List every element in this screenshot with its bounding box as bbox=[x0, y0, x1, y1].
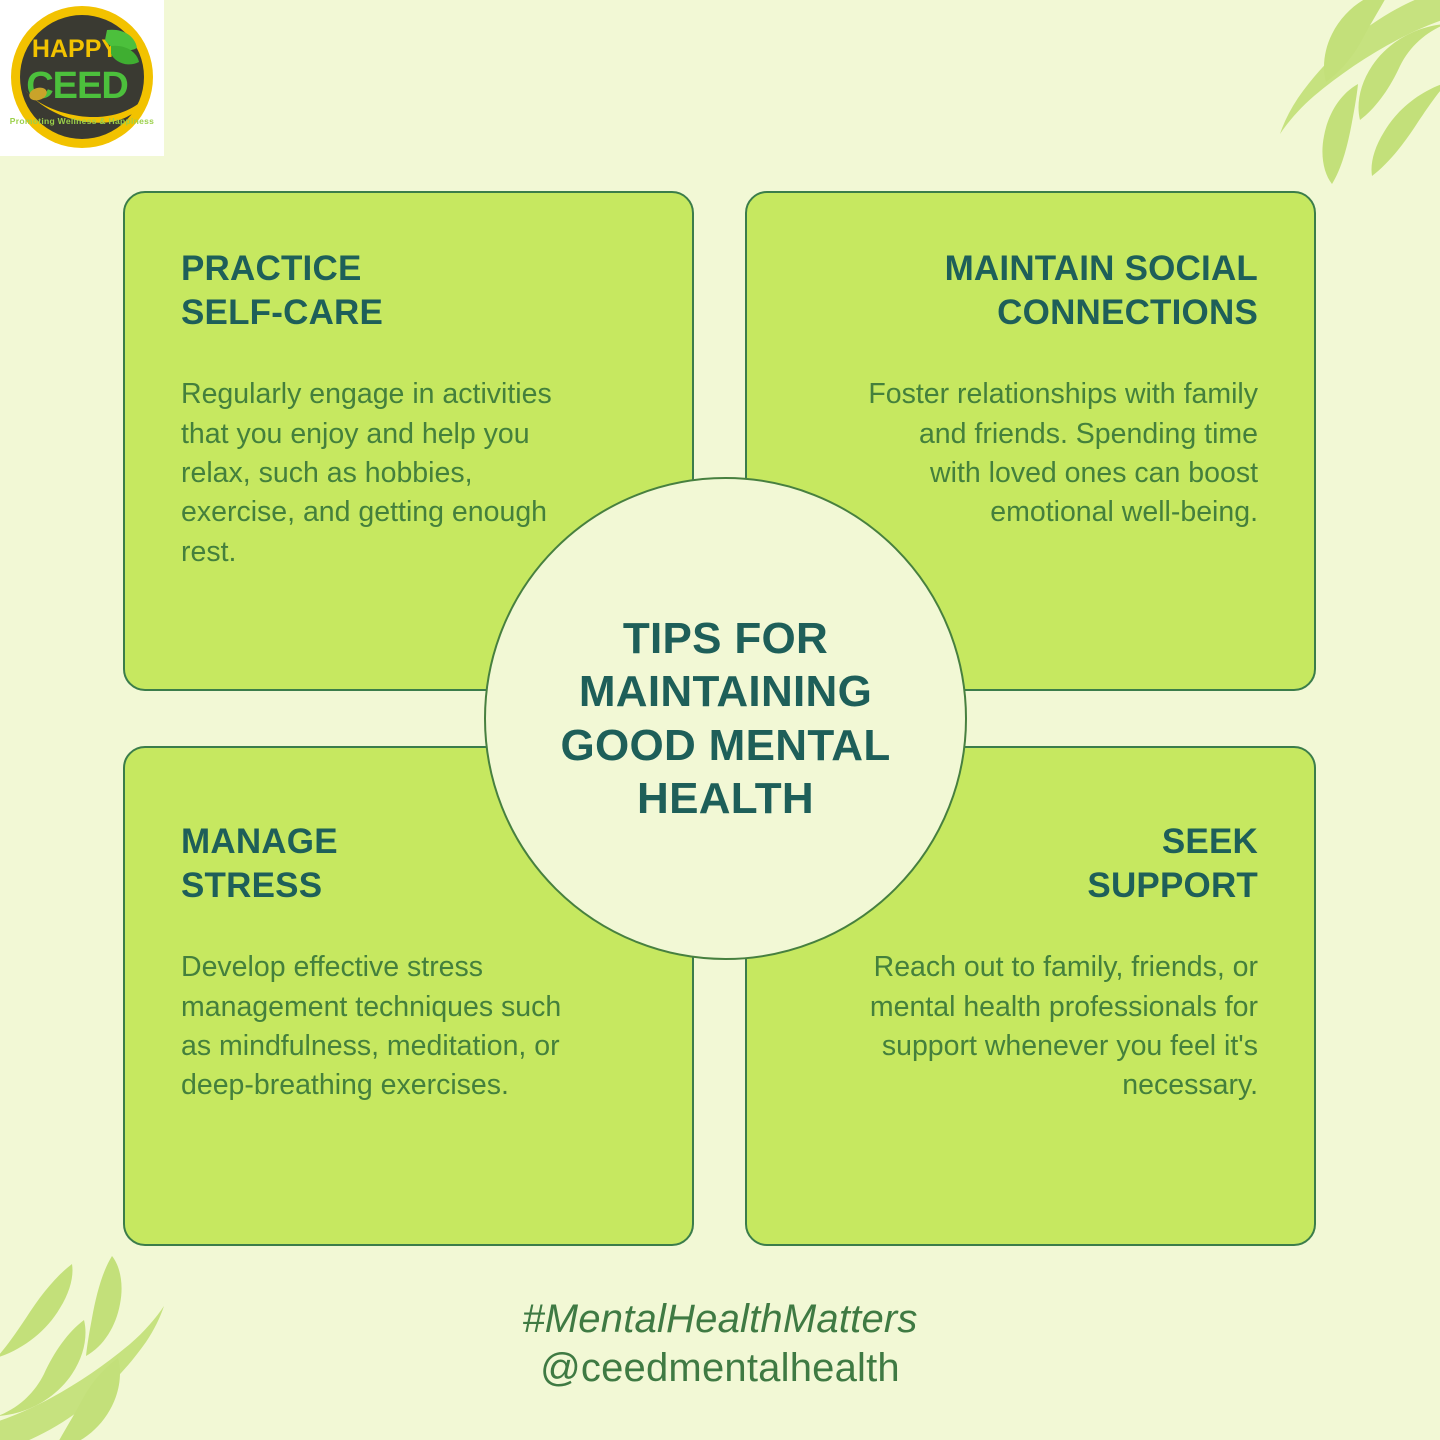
brand-logo: HAPPY CEED Promoting Wellness & Happines… bbox=[0, 0, 164, 156]
svg-text:Promoting Wellness & Happiness: Promoting Wellness & Happiness bbox=[10, 116, 154, 126]
hashtag-text: #MentalHealthMatters bbox=[0, 1295, 1440, 1344]
social-handle-text: @ceedmentalhealth bbox=[0, 1344, 1440, 1393]
leaf-logo-badge-icon: HAPPY CEED Promoting Wellness & Happines… bbox=[7, 2, 157, 152]
center-title-circle: TIPS FOR MAINTAINING GOOD MENTAL HEALTH bbox=[484, 477, 967, 960]
card-body: Foster relationships with family and fri… bbox=[863, 375, 1258, 532]
card-body: Reach out to family, friends, or mental … bbox=[863, 948, 1258, 1105]
card-title: PRACTICE SELF-CARE bbox=[181, 247, 636, 335]
card-body: Regularly engage in activities that you … bbox=[181, 375, 576, 572]
svg-text:CEED: CEED bbox=[26, 65, 128, 107]
page-title: TIPS FOR MAINTAINING GOOD MENTAL HEALTH bbox=[526, 612, 924, 825]
leaf-branch-icon-top-right bbox=[1240, 0, 1440, 196]
card-body: Develop effective stress management tech… bbox=[181, 948, 576, 1105]
footer: #MentalHealthMatters @ceedmentalhealth bbox=[0, 1295, 1440, 1393]
card-title: MAINTAIN SOCIAL CONNECTIONS bbox=[803, 247, 1258, 335]
